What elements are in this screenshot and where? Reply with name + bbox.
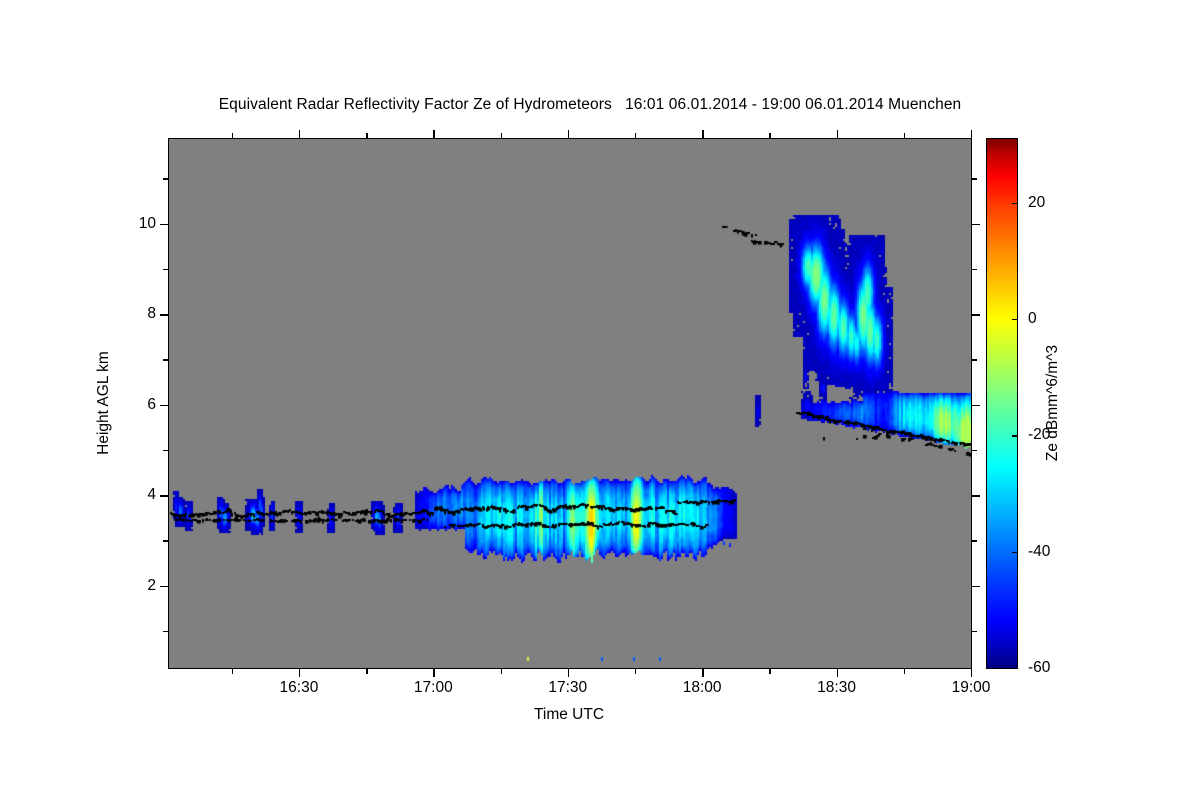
x-tick-major [971, 668, 972, 677]
x-tick-major-top [837, 130, 838, 139]
y-tick-major [160, 314, 169, 315]
colorbar-tick-label: -40 [1028, 543, 1050, 561]
y-tick-major [160, 495, 169, 496]
reflectivity-heatmap [169, 139, 971, 668]
y-tick-minor [163, 540, 169, 541]
x-tick-major [702, 668, 703, 677]
y-tick-minor-right [971, 540, 977, 541]
y-axis-title: Height AGL km [95, 351, 113, 455]
radar-reflectivity-figure: Equivalent Radar Reflectivity Factor Ze … [0, 0, 1200, 800]
x-tick-major [837, 668, 838, 677]
y-tick-label: 6 [147, 396, 156, 414]
colorbar-tick [1012, 552, 1017, 553]
colorbar-tick [1012, 319, 1017, 320]
x-tick-label: 18:30 [817, 679, 856, 697]
y-tick-major [160, 224, 169, 225]
colorbar-tick-label: 0 [1028, 310, 1037, 328]
x-tick-major-top [299, 130, 300, 139]
y-tick-major [160, 586, 169, 587]
y-tick-major [160, 405, 169, 406]
x-tick-label: 16:30 [280, 679, 319, 697]
y-tick-minor-right [971, 178, 977, 179]
y-tick-minor [163, 359, 169, 360]
colorbar-tick [1012, 668, 1017, 669]
y-tick-major-right [971, 314, 980, 315]
x-tick-minor-top [769, 133, 770, 139]
x-tick-major-top [702, 130, 703, 139]
x-tick-label: 18:00 [683, 679, 722, 697]
x-tick-minor [904, 668, 905, 674]
x-tick-major [568, 668, 569, 677]
y-tick-label: 10 [139, 215, 156, 233]
x-axis-title: Time UTC [534, 706, 604, 724]
x-tick-minor-top [635, 133, 636, 139]
x-tick-minor-top [366, 133, 367, 139]
y-tick-minor-right [971, 631, 977, 632]
x-tick-label: 17:00 [414, 679, 453, 697]
x-tick-minor [232, 668, 233, 674]
x-tick-major [299, 668, 300, 677]
y-tick-minor-right [971, 269, 977, 270]
y-tick-minor [163, 269, 169, 270]
colorbar-tick-label: 20 [1028, 194, 1045, 212]
x-tick-minor-top [232, 133, 233, 139]
colorbar-tick [1012, 203, 1017, 204]
x-tick-major-top [971, 130, 972, 139]
x-tick-minor [366, 668, 367, 674]
x-tick-minor-top [501, 133, 502, 139]
x-tick-minor-top [904, 133, 905, 139]
y-tick-label: 4 [147, 486, 156, 504]
x-tick-minor [501, 668, 502, 674]
x-tick-major [433, 668, 434, 677]
plot-axes: 24681016:3017:0017:3018:0018:3019:00 [168, 138, 972, 669]
y-tick-minor [163, 450, 169, 451]
y-tick-minor [163, 631, 169, 632]
x-tick-minor [769, 668, 770, 674]
colorbar-tick [1012, 435, 1017, 436]
x-tick-label: 17:30 [548, 679, 587, 697]
colorbar: -60-40-20020 [986, 138, 1018, 669]
y-tick-minor-right [971, 450, 977, 451]
colorbar-tick-label: -60 [1028, 659, 1050, 677]
y-tick-major-right [971, 495, 980, 496]
y-tick-major-right [971, 586, 980, 587]
y-tick-label: 8 [147, 305, 156, 323]
x-tick-major-top [433, 130, 434, 139]
y-tick-major-right [971, 405, 980, 406]
y-tick-label: 2 [147, 577, 156, 595]
colorbar-title: Ze dBmm^6/m^3 [1044, 345, 1062, 461]
y-tick-major-right [971, 224, 980, 225]
y-tick-minor-right [971, 359, 977, 360]
x-tick-minor [635, 668, 636, 674]
y-tick-minor [163, 178, 169, 179]
figure-title: Equivalent Radar Reflectivity Factor Ze … [0, 96, 1180, 114]
x-tick-major-top [568, 130, 569, 139]
x-tick-label: 19:00 [952, 679, 991, 697]
